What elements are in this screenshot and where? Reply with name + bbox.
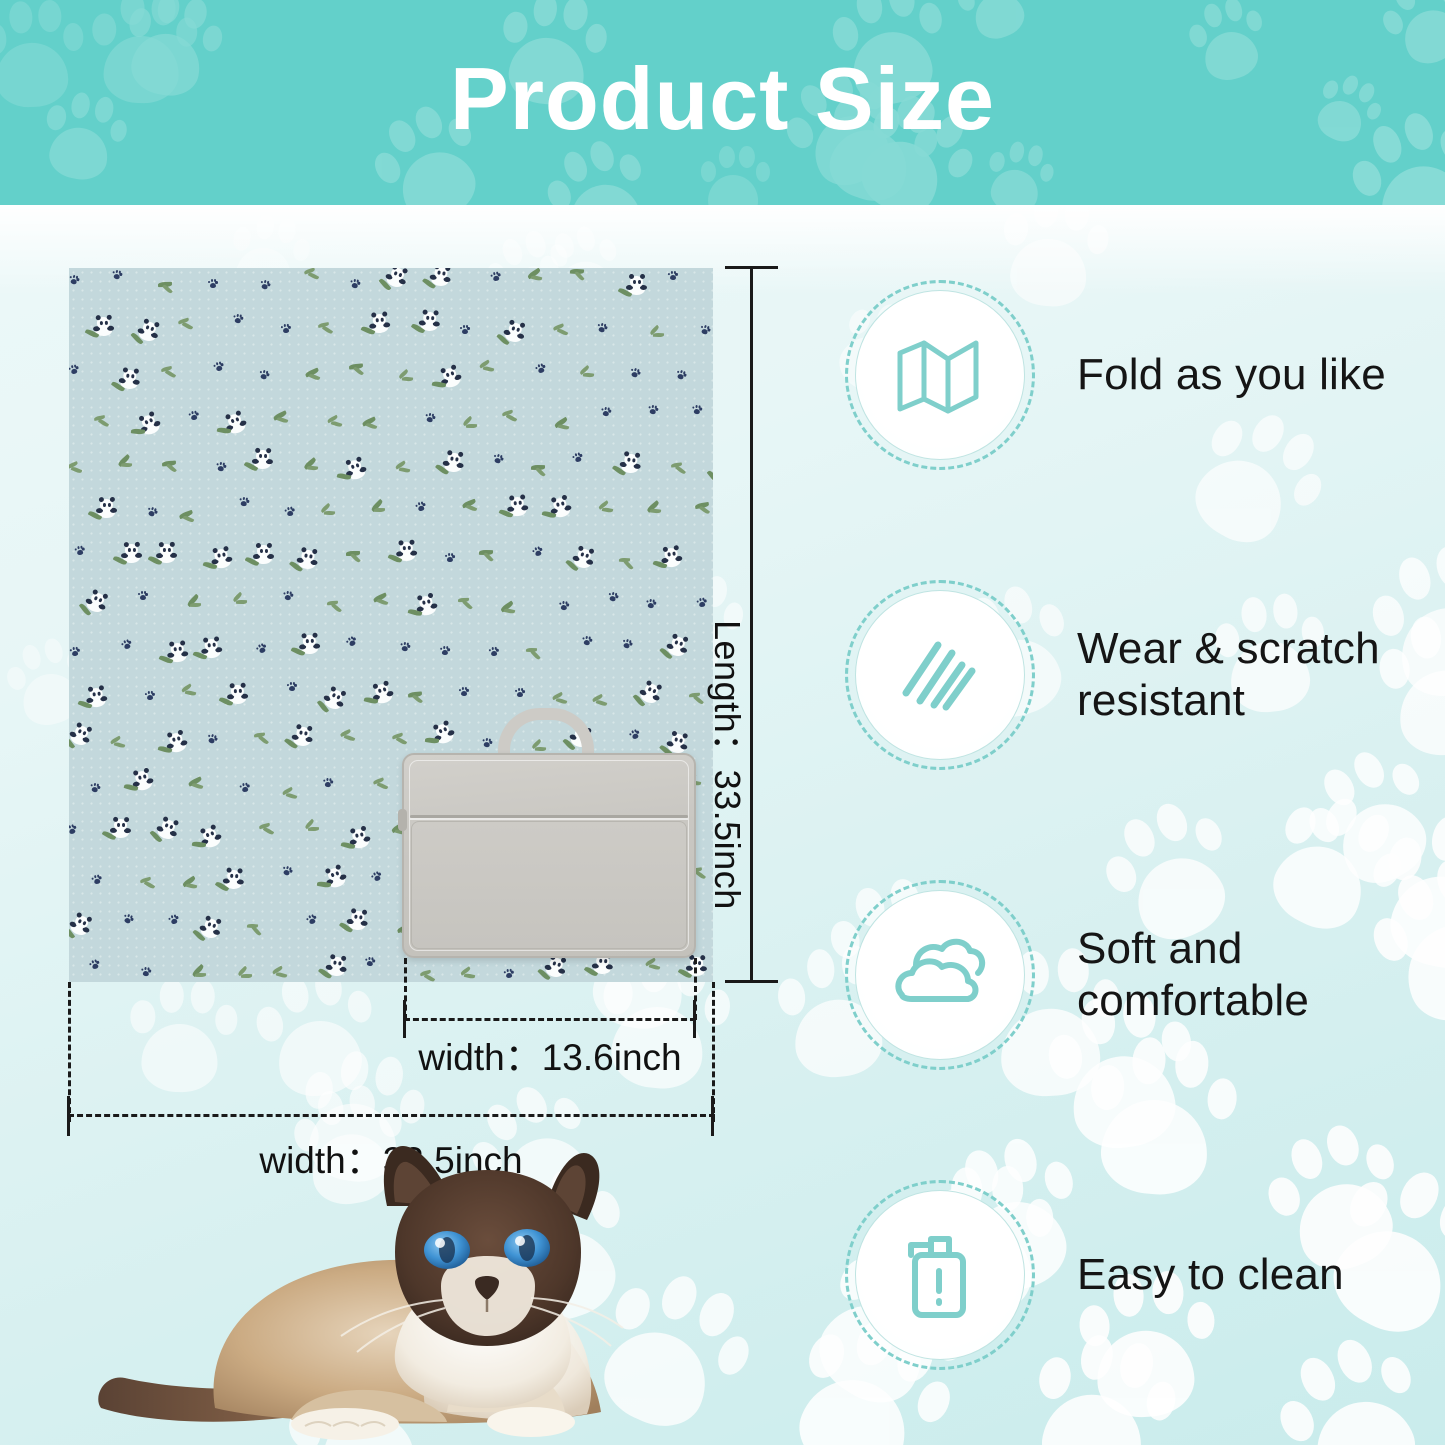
bamboo-leaf-motif-icon	[374, 508, 385, 512]
feature-label-line: resistant	[1077, 675, 1380, 727]
bamboo-leaf-motif-icon	[308, 827, 319, 831]
feature-disc	[855, 290, 1025, 460]
paw-print-motif-icon	[503, 968, 513, 980]
feature-icon-circle	[845, 280, 1035, 470]
cloud-icon	[892, 935, 988, 1015]
sleeve-zipper-pull	[398, 809, 407, 831]
feature-item-fold: Fold as you like	[845, 270, 1425, 480]
cat-paw-left	[487, 1407, 575, 1437]
paw-print-motif-icon	[459, 687, 468, 698]
feature-label-line: Easy to clean	[1077, 1249, 1344, 1301]
product-size-infographic: Product Size Length：33.5inch width：13.6i…	[0, 0, 1445, 1445]
paw-print-motif-icon	[490, 271, 501, 283]
bamboo-leaf-motif-icon	[653, 333, 664, 337]
paw-print-motif-icon	[281, 324, 290, 335]
feature-disc	[855, 590, 1025, 760]
laptop-sleeve-bag	[402, 753, 696, 958]
length-dimension-label: Length：33.5inch	[704, 620, 756, 910]
bamboo-leaf-motif-icon	[195, 972, 206, 976]
paw-print-motif-icon	[287, 682, 296, 693]
paw-print-motif-icon	[69, 364, 79, 377]
mat-width-dimension-line	[68, 1114, 715, 1117]
bamboo-leaf-motif-icon	[236, 599, 247, 603]
feature-item-soft-comfortable: Soft and comfortable	[845, 870, 1425, 1080]
paw-print-motif-icon	[322, 777, 332, 789]
paw-print-motif-icon	[365, 957, 375, 969]
paw-print-motif-icon	[559, 600, 569, 612]
paw-print-motif-icon	[600, 406, 611, 418]
length-dimension-cap-bottom	[725, 980, 778, 983]
feature-label-line: Soft and	[1077, 923, 1309, 975]
feature-label-line: Fold as you like	[1077, 349, 1386, 401]
feature-disc	[855, 1190, 1025, 1360]
feature-label: Easy to clean	[1077, 1249, 1344, 1301]
paw-print-motif-icon	[439, 645, 449, 657]
paw-print-motif-icon	[515, 688, 524, 699]
paw-print-motif-icon	[91, 874, 102, 886]
paw-print-motif-icon	[138, 591, 147, 602]
feature-icon-circle	[845, 1180, 1035, 1370]
paw-print-motif-icon	[691, 404, 701, 416]
paw-print-motif-icon	[349, 278, 360, 291]
header-banner: Product Size	[0, 0, 1445, 205]
ragdoll-cat-photo	[95, 1140, 785, 1445]
bamboo-leaf-motif-icon	[241, 973, 252, 977]
sleeve-width-label: width：13.6inch	[400, 1027, 700, 1081]
paw-print-motif-icon	[213, 361, 224, 374]
paw-print-motif-icon	[489, 646, 499, 658]
paw-print-motif-icon	[74, 546, 84, 558]
paw-print-motif-icon	[581, 635, 592, 647]
feature-item-easy-clean: Easy to clean	[845, 1170, 1425, 1380]
feature-label: Wear & scratch resistant	[1077, 623, 1380, 727]
bamboo-leaf-motif-icon	[582, 372, 593, 377]
paw-print-motif-icon	[145, 691, 154, 702]
folded-map-icon	[894, 331, 986, 419]
bamboo-leaf-motif-icon	[465, 424, 476, 428]
scratch-lines-icon	[894, 631, 986, 719]
bamboo-leaf-motif-icon	[121, 463, 132, 468]
sleeve-zipper	[410, 815, 688, 818]
paw-print-motif-icon	[69, 647, 79, 659]
feature-list: Fold as you like	[845, 270, 1425, 1430]
feature-icon-circle	[845, 880, 1035, 1070]
feature-label-line: comfortable	[1077, 975, 1309, 1027]
feature-icon-circle	[845, 580, 1035, 770]
paw-print-motif-icon	[232, 313, 243, 325]
paw-print-motif-icon	[668, 271, 677, 282]
paw-print-motif-icon	[239, 782, 249, 794]
paw-print-motif-icon	[460, 325, 469, 336]
bamboo-leaf-motif-icon	[307, 465, 318, 470]
feature-label: Fold as you like	[1077, 349, 1386, 401]
paw-print-motif-icon	[188, 410, 198, 422]
page-title: Product Size	[0, 0, 1445, 205]
paw-print-motif-icon	[284, 506, 295, 518]
paw-print-motif-icon	[140, 967, 150, 979]
feature-label-line: Wear & scratch	[1077, 623, 1380, 675]
paw-print-motif-icon	[445, 552, 454, 563]
sleeve-front-pocket	[411, 821, 687, 949]
feature-label: Soft and comfortable	[1077, 923, 1309, 1027]
feature-disc	[855, 890, 1025, 1060]
paw-print-motif-icon	[696, 598, 707, 610]
paw-print-icon	[121, 972, 237, 1099]
sleeve-width-dimension-line	[404, 1018, 696, 1021]
feature-item-wear-scratch: Wear & scratch resistant	[845, 570, 1425, 780]
detergent-bottle-icon	[897, 1229, 983, 1321]
paw-print-motif-icon	[208, 279, 217, 290]
